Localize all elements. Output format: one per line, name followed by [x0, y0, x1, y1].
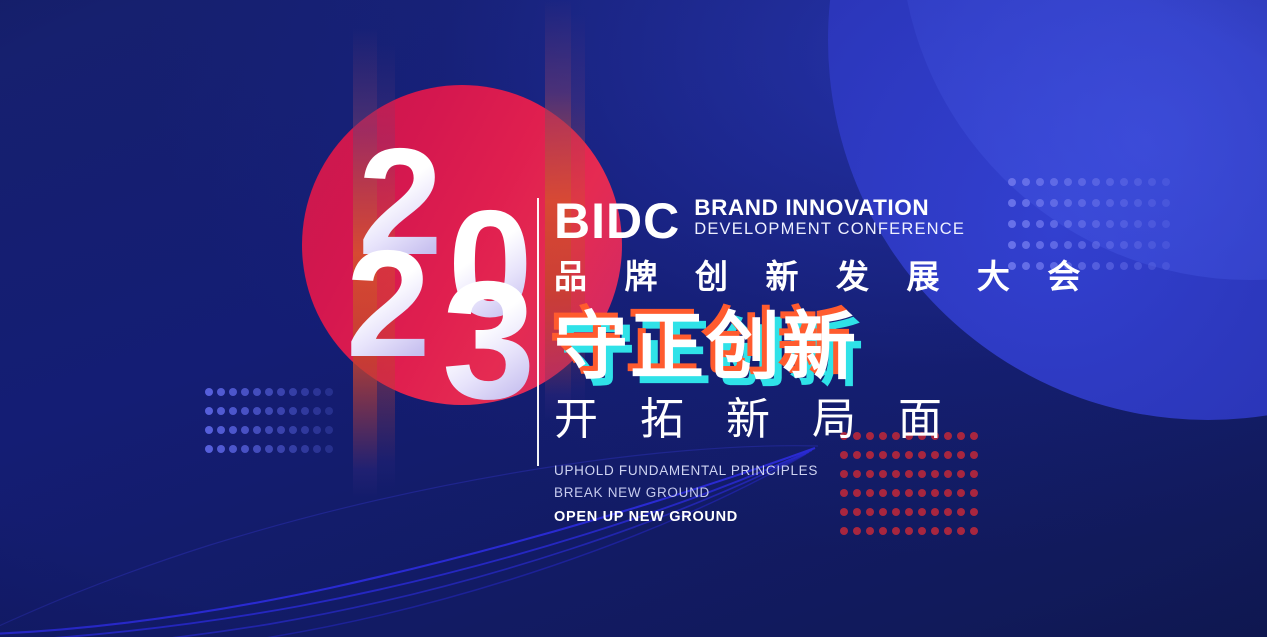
vignette-overlay	[0, 0, 1267, 637]
poster-canvas: 2 0 2 3 BIDC BRAND INNOVATION DEVELOPMEN…	[0, 0, 1267, 637]
